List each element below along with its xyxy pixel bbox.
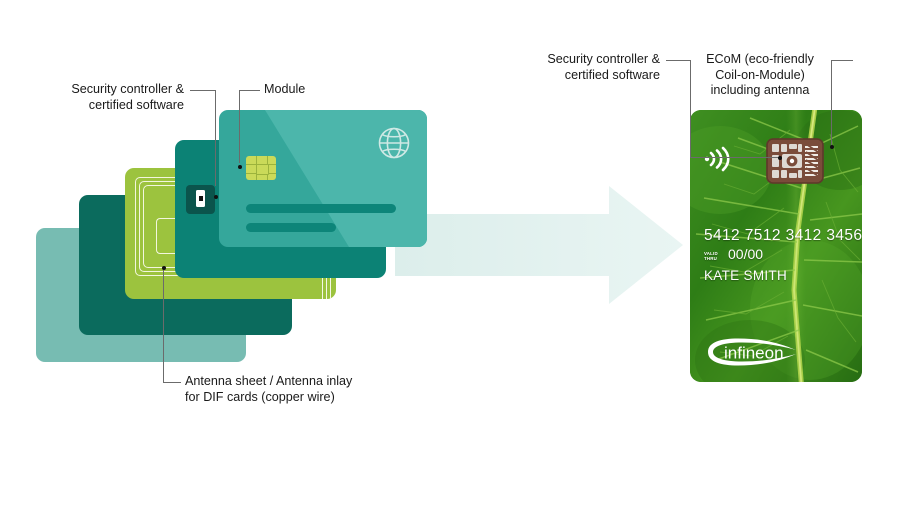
card-stripe-long <box>246 204 396 213</box>
card-expiry: 00/00 <box>728 246 763 262</box>
infineon-logo: infineon <box>704 338 800 366</box>
label-security-controller-left: Security controller & certified software <box>40 82 184 113</box>
label-antenna-sheet: Antenna sheet / Antenna inlay for DIF ca… <box>185 374 415 405</box>
leader-security-right-h <box>666 60 690 61</box>
svg-text:infineon: infineon <box>724 344 784 363</box>
label-module: Module <box>264 82 364 98</box>
leader-dot-ecom <box>830 145 834 149</box>
leader-antenna-h <box>163 382 181 383</box>
label-ecom: ECoM (eco-friendly Coil-on-Module) inclu… <box>694 52 826 99</box>
leader-security-right-v <box>690 60 691 157</box>
leader-dot-security-left <box>214 195 218 199</box>
module-gold-chip <box>246 156 276 180</box>
ecom-leaf-card: 5412 7512 3412 3456 VALID THRU 00/00 KAT… <box>690 110 862 382</box>
process-arrow <box>395 186 683 304</box>
valid-thru-label: VALID THRU <box>704 251 728 261</box>
card-layer-front <box>219 110 427 247</box>
card-stripe-short <box>246 223 336 232</box>
contactless-icon <box>704 146 734 172</box>
globe-icon <box>377 126 411 160</box>
leader-module-v <box>239 90 240 163</box>
leader-antenna-v <box>163 270 164 382</box>
cardholder-name: KATE SMITH <box>704 268 787 283</box>
leader-dot-module <box>238 165 242 169</box>
label-security-controller-right: Security controller & certified software <box>520 52 660 83</box>
security-controller-die <box>199 196 203 201</box>
leader-ecom-v <box>831 60 832 146</box>
module-chip-center <box>256 164 269 175</box>
leader-ecom-h <box>831 60 853 61</box>
leader-module-h <box>239 90 260 91</box>
ecom-module-icon <box>766 138 824 184</box>
leader-security-left-v <box>215 90 216 186</box>
leader-security-right-h2 <box>690 157 780 158</box>
leader-dot-antenna <box>162 266 166 270</box>
leader-dot-security-right <box>778 156 782 160</box>
infographic-canvas: 5412 7512 3412 3456 VALID THRU 00/00 KAT… <box>0 0 900 506</box>
card-number: 5412 7512 3412 3456 <box>704 227 862 245</box>
leader-security-left-h <box>190 90 215 91</box>
